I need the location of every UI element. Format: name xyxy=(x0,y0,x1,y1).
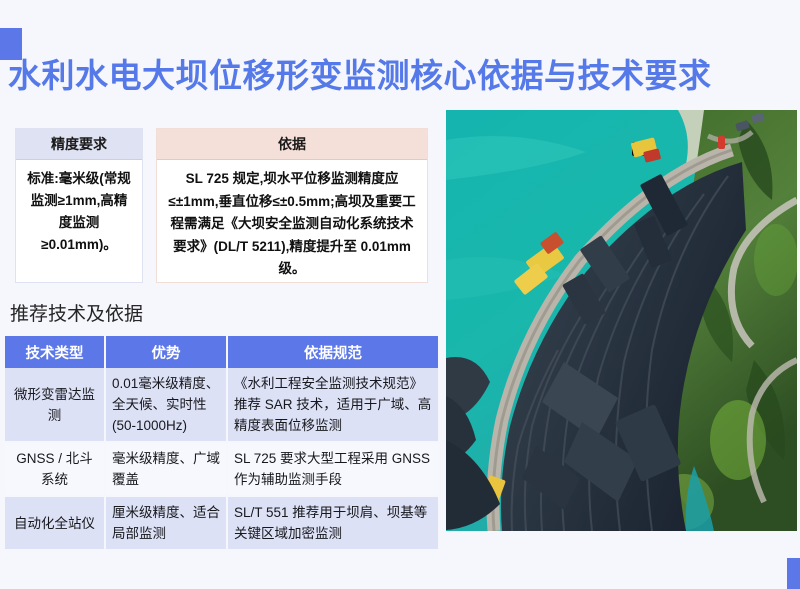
table-header-row: 技术类型 优势 依据规范 xyxy=(5,336,438,368)
recommended-technology-table: 技术类型 优势 依据规范 微形变雷达监测 0.01毫米级精度、全天候、实时性(5… xyxy=(5,336,438,551)
accuracy-box-header: 精度要求 xyxy=(16,129,142,160)
cell-technology-type: 自动化全站仪 xyxy=(5,496,105,550)
accent-square-bottom-right xyxy=(787,558,800,589)
cell-technology-type: 微形变雷达监测 xyxy=(5,368,105,442)
column-header-technology-type: 技术类型 xyxy=(5,336,105,368)
basis-box-header: 依据 xyxy=(157,129,427,160)
column-header-advantage: 优势 xyxy=(105,336,227,368)
dam-aerial-photo xyxy=(446,110,797,531)
cell-standard: SL 725 要求大型工程采用 GNSS 作为辅助监测手段 xyxy=(227,442,438,496)
slide-title: 水利水电大坝位移形变监测核心依据与技术要求 xyxy=(8,55,788,97)
basis-box-body: SL 725 规定,坝水平位移监测精度应≤±1mm,垂直位移≤±0.5mm;高坝… xyxy=(157,160,427,289)
cell-technology-type: GNSS / 北斗系统 xyxy=(5,442,105,496)
slide-root: 水利水电大坝位移形变监测核心依据与技术要求 精度要求 标准:毫米级(常规监测≥1… xyxy=(0,0,800,589)
cell-standard: SL/T 551 推荐用于坝肩、坝基等关键区域加密监测 xyxy=(227,496,438,550)
column-header-standard: 依据规范 xyxy=(227,336,438,368)
cell-advantage: 0.01毫米级精度、全天候、实时性(50-1000Hz) xyxy=(105,368,227,442)
table-row: 微形变雷达监测 0.01毫米级精度、全天候、实时性(50-1000Hz) 《水利… xyxy=(5,368,438,442)
accuracy-box-body: 标准:毫米级(常规监测≥1mm,高精度监测≥0.01mm)。 xyxy=(16,160,142,264)
cell-advantage: 毫米级精度、广域覆盖 xyxy=(105,442,227,496)
cell-standard: 《水利工程安全监测技术规范》推荐 SAR 技术，适用于广域、高精度表面位移监测 xyxy=(227,368,438,442)
accuracy-requirement-box: 精度要求 标准:毫米级(常规监测≥1mm,高精度监测≥0.01mm)。 xyxy=(15,128,143,283)
section-heading-recommended-tech: 推荐技术及依据 xyxy=(10,303,143,327)
cell-advantage: 厘米级精度、适合局部监测 xyxy=(105,496,227,550)
table-row: 自动化全站仪 厘米级精度、适合局部监测 SL/T 551 推荐用于坝肩、坝基等关… xyxy=(5,496,438,550)
table-row: GNSS / 北斗系统 毫米级精度、广域覆盖 SL 725 要求大型工程采用 G… xyxy=(5,442,438,496)
basis-box: 依据 SL 725 规定,坝水平位移监测精度应≤±1mm,垂直位移≤±0.5mm… xyxy=(156,128,428,283)
